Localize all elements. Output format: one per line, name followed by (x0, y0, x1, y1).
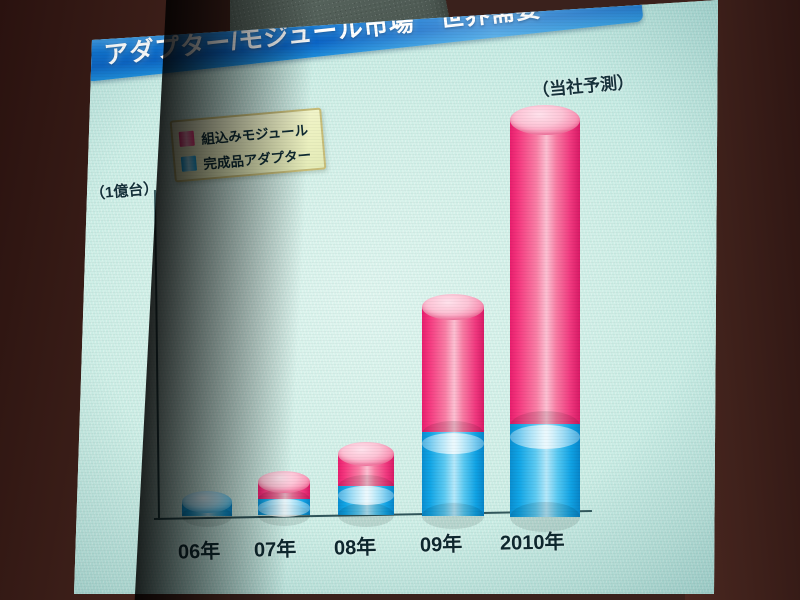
photo-of-projected-slide: アダプター/モジュール市場 世界需要 （当社予測） （1億台） 組込みモジュール… (0, 0, 800, 600)
